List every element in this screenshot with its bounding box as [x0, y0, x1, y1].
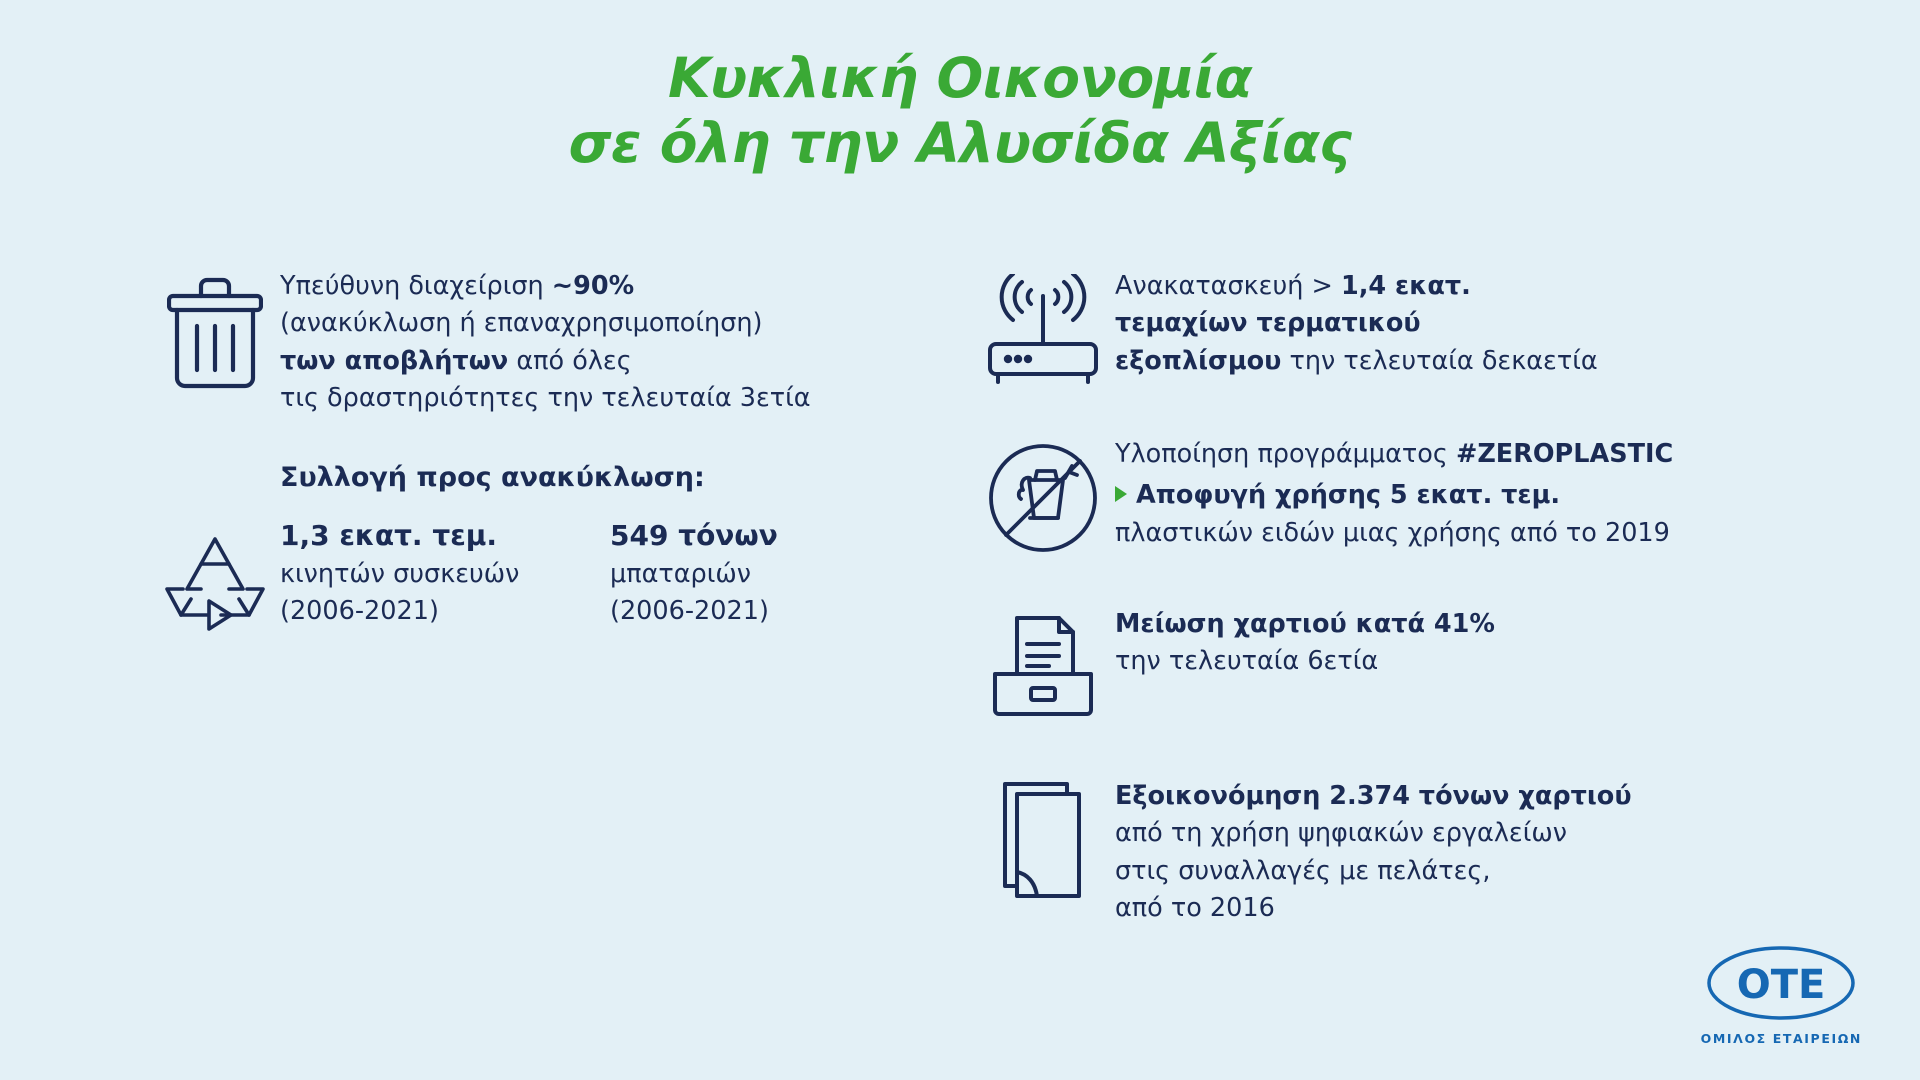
- recycling-stat-0: 1,3 εκατ. τεμ. κινητών συσκευών (2006-20…: [280, 519, 610, 631]
- zeroplastic-avoidance-value: Αποφυγή χρήσης 5 εκατ. τεμ.: [1136, 480, 1560, 510]
- refurbish-line-3: εξοπλίσμου την τελευταία δεκαετία: [1115, 343, 1920, 380]
- waste-line-2: (ανακύκλωση ή επαναχρησιμοποίηση): [280, 305, 930, 342]
- paper-saving-line-3: στις συναλλαγές με πελάτες,: [1115, 853, 1920, 890]
- title-line-2: σε όλη την Αλυσίδα Αξίας: [0, 111, 1920, 176]
- recycling-stats-item: 1,3 εκατ. τεμ. κινητών συσκευών (2006-20…: [150, 519, 930, 637]
- recycling-stat-1-value: 549 τόνων: [610, 519, 778, 552]
- wifi-router-icon: [970, 268, 1115, 384]
- ote-logo-subtitle: ΟΜΙΛΟΣ ΕΤΑΙΡΕΙΩΝ: [1701, 1031, 1862, 1046]
- ote-logo-mark: OTE: [1705, 944, 1857, 1022]
- recycling-stat-0-value: 1,3 εκατ. τεμ.: [280, 519, 610, 552]
- zeroplastic-line-3: πλαστικών ειδών μιας χρήσης από το 2019: [1115, 515, 1920, 552]
- recycling-stat-1-period: (2006-2021): [610, 593, 778, 630]
- title-line-1: Κυκλική Οικονομία: [0, 46, 1920, 111]
- zeroplastic-line-1: Υλοποίηση προγράμματος #ZEROPLASTIC: [1115, 436, 1920, 473]
- waste-line-4: τις δραστηριότητες την τελευταία 3ετία: [280, 380, 930, 417]
- file-drawer-icon: [970, 606, 1115, 722]
- left-column: Υπεύθυνη διαχείριση ~90% (ανακύκλωση ή ε…: [0, 268, 930, 928]
- refurbish-count-value: 1,4 εκατ.: [1341, 271, 1471, 301]
- recycling-stats: 1,3 εκατ. τεμ. κινητών συσκευών (2006-20…: [280, 519, 930, 631]
- refurbish-line-1-plain: Ανακατασκευή >: [1115, 271, 1341, 301]
- paper-saving-item: Εξοικονόμηση 2.374 τόνων χαρτιού από τη …: [970, 778, 1920, 928]
- waste-percent-value: ~90%: [552, 271, 634, 301]
- green-triangle-bullet-icon: [1115, 486, 1127, 502]
- refurbish-line-3-bold: εξοπλίσμου: [1115, 346, 1281, 376]
- recycling-stat-1-label: μπαταριών: [610, 556, 778, 593]
- recycling-stat-0-period: (2006-2021): [280, 593, 610, 630]
- content-columns: Υπεύθυνη διαχείριση ~90% (ανακύκλωση ή ε…: [0, 268, 1920, 928]
- paper-sheets-icon: [970, 778, 1115, 898]
- refurbish-text: Ανακατασκευή > 1,4 εκατ. τεμαχίων τερματ…: [1115, 268, 1920, 380]
- waste-management-item: Υπεύθυνη διαχείριση ~90% (ανακύκλωση ή ε…: [150, 268, 930, 418]
- refurbish-line-2: τεμαχίων τερματικού: [1115, 305, 1920, 342]
- paper-reduction-item: Μείωση χαρτιού κατά 41% την τελευταία 6ε…: [970, 606, 1920, 722]
- ote-logo: OTE ΟΜΙΛΟΣ ΕΤΑΙΡΕΙΩΝ: [1701, 944, 1862, 1046]
- paper-reduction-period: την τελευταία 6ετία: [1115, 643, 1920, 680]
- paper-saving-text: Εξοικονόμηση 2.374 τόνων χαρτιού από τη …: [1115, 778, 1920, 928]
- right-column: Ανακατασκευή > 1,4 εκατ. τεμαχίων τερματ…: [930, 268, 1920, 928]
- refurbish-line-1: Ανακατασκευή > 1,4 εκατ.: [1115, 268, 1920, 305]
- recycling-heading: Συλλογή προς ανακύκλωση:: [280, 462, 930, 493]
- recycling-section: Συλλογή προς ανακύκλωση:: [150, 462, 930, 637]
- zeroplastic-text: Υλοποίηση προγράμματος #ZEROPLASTIC Αποφ…: [1115, 436, 1920, 552]
- waste-line-3: των αποβλήτων από όλες: [280, 343, 930, 380]
- waste-line-1-plain: Υπεύθυνη διαχείριση: [280, 271, 552, 301]
- refurbish-item: Ανακατασκευή > 1,4 εκατ. τεμαχίων τερματ…: [970, 268, 1920, 384]
- no-plastic-icon: [970, 436, 1115, 558]
- paper-reduction-headline: Μείωση χαρτιού κατά 41%: [1115, 606, 1920, 643]
- paper-reduction-text: Μείωση χαρτιού κατά 41% την τελευταία 6ε…: [1115, 606, 1920, 681]
- recycling-stats-row: 1,3 εκατ. τεμ. κινητών συσκευών (2006-20…: [280, 519, 930, 631]
- zeroplastic-line-2: Αποφυγή χρήσης 5 εκατ. τεμ.: [1115, 477, 1920, 514]
- recycling-stat-0-label: κινητών συσκευών: [280, 556, 610, 593]
- svg-text:OTE: OTE: [1737, 962, 1826, 1008]
- trash-bin-icon: [150, 268, 280, 390]
- page-title: Κυκλική Οικονομία σε όλη την Αλυσίδα Αξί…: [0, 0, 1920, 176]
- paper-saving-line-4: από το 2016: [1115, 890, 1920, 927]
- zeroplastic-hashtag: #ZEROPLASTIC: [1456, 439, 1673, 469]
- waste-line-3-plain: από όλες: [508, 346, 631, 376]
- zeroplastic-item: Υλοποίηση προγράμματος #ZEROPLASTIC Αποφ…: [970, 436, 1920, 558]
- waste-line-3-bold: των αποβλήτων: [280, 346, 508, 376]
- refurbish-line-3-plain: την τελευταία δεκαετία: [1281, 346, 1597, 376]
- zeroplastic-line-1-plain: Υλοποίηση προγράμματος: [1115, 439, 1456, 469]
- paper-saving-headline: Εξοικονόμηση 2.374 τόνων χαρτιού: [1115, 778, 1920, 815]
- recycling-arrows-icon: [150, 519, 280, 637]
- waste-management-text: Υπεύθυνη διαχείριση ~90% (ανακύκλωση ή ε…: [280, 268, 930, 418]
- waste-line-1: Υπεύθυνη διαχείριση ~90%: [280, 268, 930, 305]
- paper-saving-line-2: από τη χρήση ψηφιακών εργαλείων: [1115, 815, 1920, 852]
- recycling-stat-1: 549 τόνων μπαταριών (2006-2021): [610, 519, 778, 631]
